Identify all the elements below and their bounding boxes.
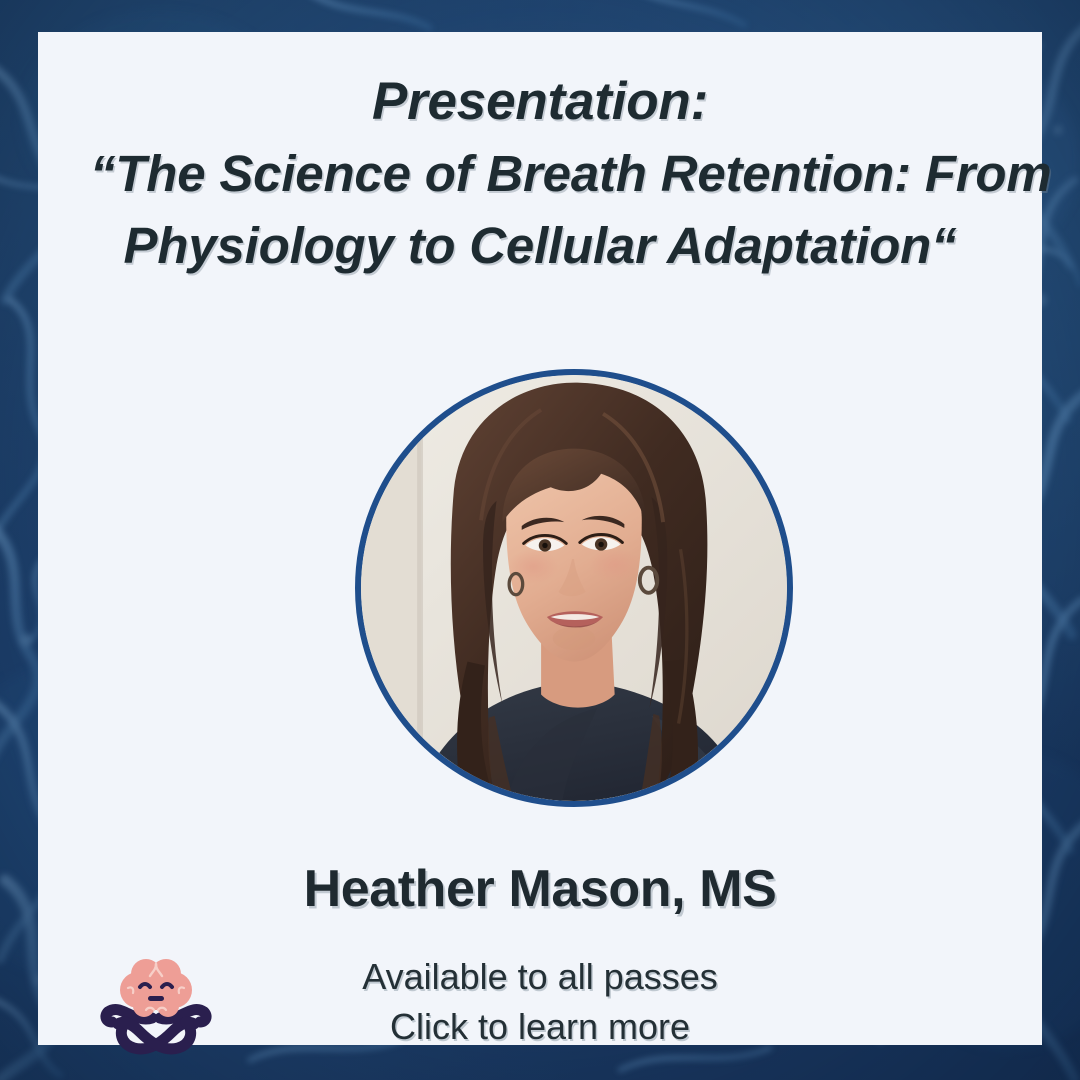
cta-learn-more[interactable]: Click to learn more (90, 1002, 990, 1052)
speaker-name: Heather Mason, MS (90, 858, 990, 920)
meditating-brain-icon (100, 954, 212, 1058)
brand-logo[interactable] (100, 954, 212, 1058)
presentation-title: Presentation: “The Science of Breath Ret… (90, 66, 990, 282)
title-line-2: “The Science of Breath Retention: From (90, 138, 990, 210)
speaker-photo (361, 375, 787, 801)
speaker-portrait (355, 369, 793, 807)
content-card: Presentation: “The Science of Breath Ret… (38, 32, 1042, 1045)
poster-root: Presentation: “The Science of Breath Ret… (0, 0, 1080, 1080)
subtitle-block: Available to all passes Click to learn m… (90, 952, 990, 1052)
subtitle-line-1: Available to all passes (90, 952, 990, 1002)
title-line-1: Presentation: (90, 66, 990, 138)
title-line-3: Physiology to Cellular Adaptation“ (90, 210, 990, 282)
